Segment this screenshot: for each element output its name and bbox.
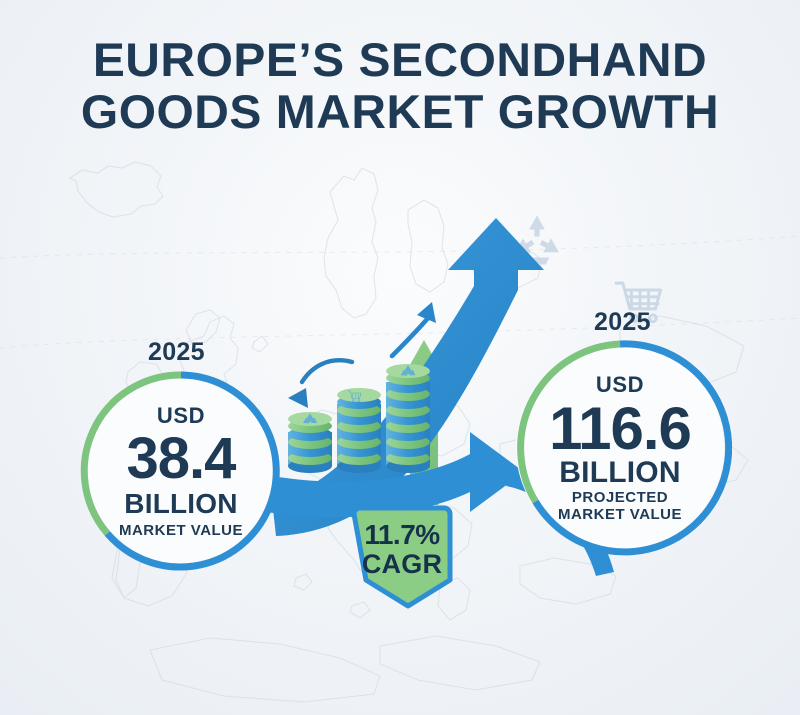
recycle-coin-stack-icon-tall <box>386 364 430 473</box>
right-caption-line-1: PROJECTED <box>518 489 722 506</box>
right-metric-content: USD 116.6 BILLION PROJECTED MARKET VALUE <box>508 373 732 523</box>
left-currency-label: USD <box>88 404 274 428</box>
cagr-percent: 11.7% <box>364 520 439 550</box>
right-currency-label: USD <box>518 373 722 397</box>
cagr-text-block: 11.7% CAGR <box>348 502 456 612</box>
cagr-badge: 11.7% CAGR <box>348 502 456 612</box>
left-value: 38.4 <box>88 430 274 488</box>
left-unit: BILLION <box>88 490 274 518</box>
recycle-coin-stack-icon <box>288 412 332 473</box>
recycle-icon <box>508 212 566 268</box>
right-year-label: 2025 <box>594 308 651 337</box>
left-metric-content: USD 38.4 BILLION MARKET VALUE <box>78 404 284 539</box>
title-line-1: EUROPE’S SECONDHAND <box>0 34 800 86</box>
page-title: EUROPE’S SECONDHAND GOODS MARKET GROWTH <box>0 34 800 138</box>
left-year-label: 2025 <box>148 338 205 367</box>
left-metric-circle: USD 38.4 BILLION MARKET VALUE <box>78 368 284 574</box>
left-caption: MARKET VALUE <box>88 522 274 539</box>
cagr-label: CAGR <box>362 550 442 579</box>
curved-up-arrow-icon <box>392 318 428 356</box>
infographic-canvas: EUROPE’S SECONDHAND GOODS MARKET GROWTH <box>0 0 800 715</box>
coin-stacks <box>282 352 442 492</box>
curved-up-arrow-head <box>417 302 436 323</box>
cart-coin-stack-icon <box>337 388 381 473</box>
right-metric-circle: USD 116.6 BILLION PROJECTED MARKET VALUE <box>508 336 732 560</box>
title-line-2: GOODS MARKET GROWTH <box>0 86 800 138</box>
right-unit: BILLION <box>518 459 722 487</box>
right-caption-line-2: MARKET VALUE <box>518 506 722 523</box>
right-value: 116.6 <box>518 399 722 459</box>
